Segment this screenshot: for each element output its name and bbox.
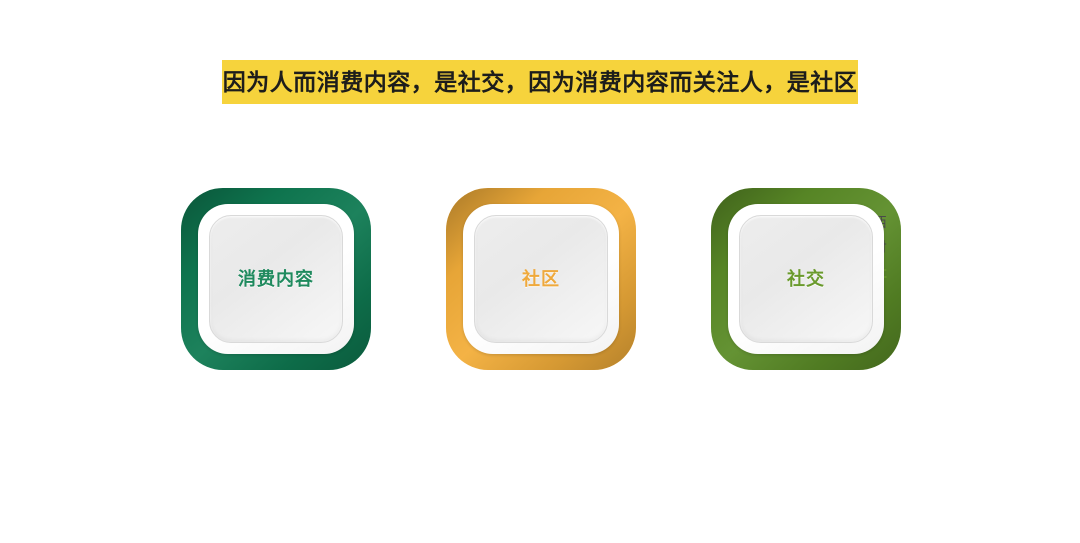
card-bezel: 消费内容 xyxy=(181,188,371,370)
concept-card-social[interactable]: 社交 xyxy=(711,188,901,370)
card-white-ring: 消费内容 xyxy=(198,204,354,354)
headline-text: 因为人而消费内容，是社交，因为消费内容而关注人，是社区 xyxy=(223,71,858,94)
card-label: 消费内容 xyxy=(238,270,314,288)
card-label: 社区 xyxy=(522,270,560,288)
concept-card-consumption-content[interactable]: 消费内容 xyxy=(181,188,371,370)
headline-banner: 因为人而消费内容，是社交，因为消费内容而关注人，是社区 xyxy=(222,60,858,104)
card-bezel: 社区 xyxy=(446,188,636,370)
card-inner-face: 社交 xyxy=(739,215,873,343)
concept-card-row: 消费内容 社区 社交 xyxy=(0,188,1080,378)
card-inner-face: 消费内容 xyxy=(209,215,343,343)
card-bezel: 社交 xyxy=(711,188,901,370)
concept-card-community[interactable]: 社区 xyxy=(446,188,636,370)
card-label: 社交 xyxy=(787,270,825,288)
card-inner-face: 社区 xyxy=(474,215,608,343)
card-white-ring: 社交 xyxy=(728,204,884,354)
card-white-ring: 社区 xyxy=(463,204,619,354)
